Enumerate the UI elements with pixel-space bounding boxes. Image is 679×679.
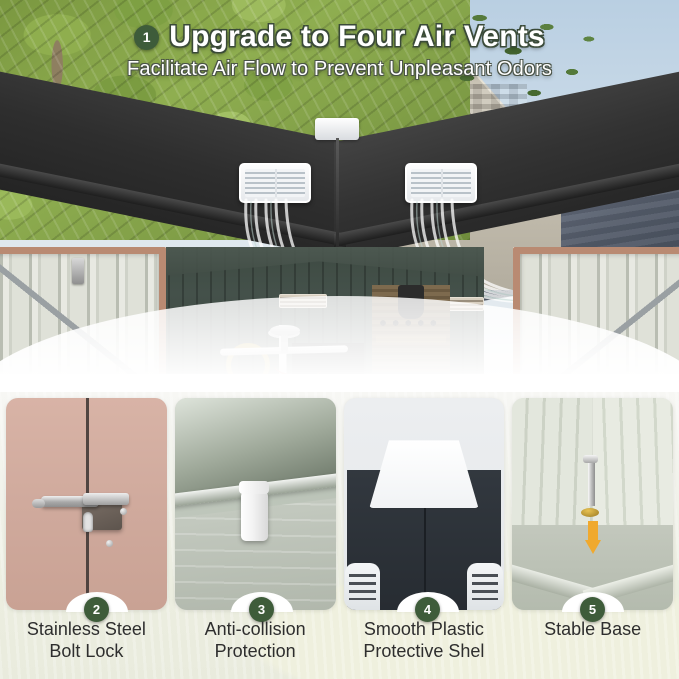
- page-subtitle: Facilitate Air Flow to Prevent Unpleasan…: [0, 58, 679, 81]
- bumper-cap: [239, 481, 269, 494]
- feature-captions: Stainless Steel Bolt Lock Anti-collision…: [6, 618, 673, 674]
- caption-line-2: Bolt Lock: [27, 641, 146, 663]
- roof-ridge-line: [336, 138, 339, 250]
- caption-line-1: Smooth Plastic: [363, 619, 484, 641]
- caption-anti-collision: Anti-collision Protection: [175, 618, 336, 674]
- title-row: 1 Upgrade to Four Air Vents: [0, 20, 679, 54]
- step-badge-1: 1: [134, 25, 159, 50]
- corner-bracket-right: [467, 563, 502, 610]
- anchor-bolt: [588, 462, 595, 506]
- door-latch-icon: [72, 258, 84, 284]
- screw-icon: [106, 540, 113, 547]
- shed-wall-right: [593, 398, 673, 546]
- caption-line-1: Anti-collision: [205, 619, 306, 641]
- header-block: 1 Upgrade to Four Air Vents Facilitate A…: [0, 20, 679, 81]
- feature-panel-anti-collision: [175, 398, 336, 610]
- arrow-shaft: [588, 521, 598, 541]
- anchor-bolt-head: [583, 455, 598, 463]
- feature-panel-row: [6, 398, 673, 610]
- vent-divider: [441, 169, 443, 197]
- vent-divider: [275, 169, 277, 197]
- roof-ridge-cap: [315, 118, 359, 140]
- feature-panel-plastic-shell: [344, 398, 505, 610]
- page-title: Upgrade to Four Air Vents: [169, 20, 545, 54]
- caption-plastic-shell: Smooth Plastic Protective Shel: [344, 618, 505, 674]
- feature-panel-stable-base: [512, 398, 673, 610]
- caption-line-1: Stable Base: [544, 619, 641, 641]
- caption-line-2: Protection: [205, 641, 306, 663]
- caption-line-2: Protective Shel: [363, 641, 484, 663]
- corner-bracket-left: [345, 563, 380, 610]
- plastic-bumper: [241, 491, 268, 541]
- keyhole-icon: [83, 512, 93, 532]
- shed-wall-left: [512, 398, 592, 546]
- caption-bolt-lock: Stainless Steel Bolt Lock: [6, 618, 167, 674]
- bolt-knob: [32, 499, 45, 508]
- arrow-head: [585, 540, 601, 554]
- down-arrow-icon: [585, 521, 601, 555]
- feature-panel-bolt-lock: [6, 398, 167, 610]
- air-vent-left-icon: [239, 163, 311, 203]
- caption-line-1: Stainless Steel: [27, 619, 146, 641]
- caption-stable-base: Stable Base: [512, 618, 673, 674]
- air-vent-right-icon: [405, 163, 477, 203]
- bolt-barrel: [83, 493, 129, 505]
- infographic-page: 1 Upgrade to Four Air Vents Facilitate A…: [0, 0, 679, 679]
